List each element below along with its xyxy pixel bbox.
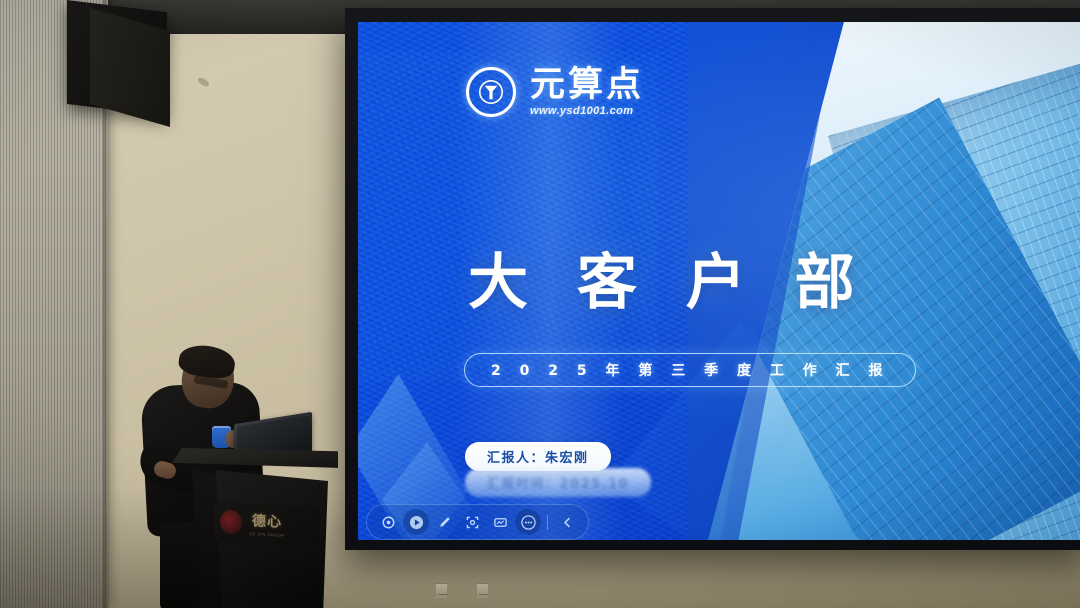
brand-logo: 元算点 www.ysd1001.com [466,67,644,117]
brand-url: www.ysd1001.com [530,105,644,117]
slide-title: 大 客 户 部 [468,250,869,316]
screen-share-icon[interactable] [487,509,513,535]
brand-text-group: 元算点 www.ysd1001.com [530,68,644,117]
pen-icon[interactable] [431,509,457,535]
podium: 德心 DE XIN GROUP [172,448,338,608]
brand-name-cn: 元算点 [530,68,644,103]
projection-screen[interactable]: 元算点 www.ysd1001.com 大 客 户 部 2 0 2 5 年 第 … [358,22,1080,540]
podium-logo-plate: 德心 DE XIN GROUP [214,501,320,547]
funnel-circle-icon [466,67,516,117]
podium-logo-subtext: DE XIN GROUP [249,531,284,538]
podium-logo-mark-icon [220,510,242,535]
spotlight-icon[interactable] [459,509,485,535]
toolbar-divider [547,515,548,530]
podium-logo-text: 德心 [252,510,282,532]
slide-subtitle-pill: 2 0 2 5 年 第 三 季 度 工 作 汇 报 [464,353,916,387]
presentation-room-scene: 元算点 www.ysd1001.com 大 客 户 部 2 0 2 5 年 第 … [0,0,1080,608]
play-icon[interactable] [403,509,429,535]
laser-pointer-icon[interactable] [375,509,401,535]
more-options-icon[interactable] [515,509,541,535]
presenter-pill: 汇报人：朱宏刚 [465,442,611,471]
presenter-secondary-pill: 汇报时间：2025.10 [465,468,651,497]
collapse-chevron-icon[interactable] [554,509,580,535]
wall-socket [435,583,448,598]
wall-socket [476,583,489,598]
presentation-toolbar[interactable] [366,504,589,540]
